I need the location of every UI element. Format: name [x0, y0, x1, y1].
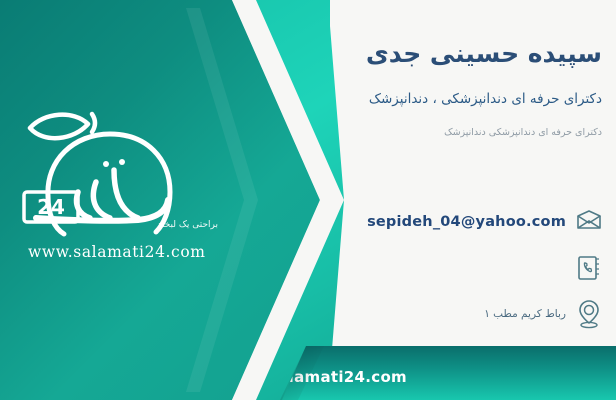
contact-value-address: رباط کریم مطب ۱	[338, 308, 572, 320]
contact-value-email: sepideh_04@yahoo.com	[338, 214, 572, 230]
logo-tagline: براحتی یک لبخند	[157, 220, 218, 230]
envelope-icon	[572, 205, 606, 239]
svg-text:24: 24	[37, 195, 65, 219]
doctor-name: سپیده حسینی جدی	[340, 38, 602, 69]
contact-list: sepideh_04@yahoo.com	[338, 203, 606, 341]
phone-book-icon	[572, 251, 606, 285]
doctor-specialty: دکترای حرفه ای دندانپزشکی دندانپزشک	[340, 126, 602, 139]
doctor-subtitle: دکترای حرفه ای دندانپزشکی ، دندانپزشک	[340, 90, 602, 109]
logo-website: www.salamati24.com	[28, 243, 206, 261]
business-card: 24 براحتی یک لبخند www.salamati24.com سپ…	[0, 0, 616, 400]
contact-row-phone[interactable]	[338, 249, 606, 287]
contact-row-email[interactable]: sepideh_04@yahoo.com	[338, 203, 606, 241]
contact-row-address[interactable]: رباط کریم مطب ۱	[338, 295, 606, 333]
card-content: سپیده حسینی جدی دکترای حرفه ای دندانپزشک…	[330, 0, 616, 400]
brand-logo: 24 براحتی یک لبخند www.salamati24.com	[18, 100, 224, 280]
contact-value-phone	[338, 268, 572, 269]
location-pin-icon	[572, 297, 606, 331]
